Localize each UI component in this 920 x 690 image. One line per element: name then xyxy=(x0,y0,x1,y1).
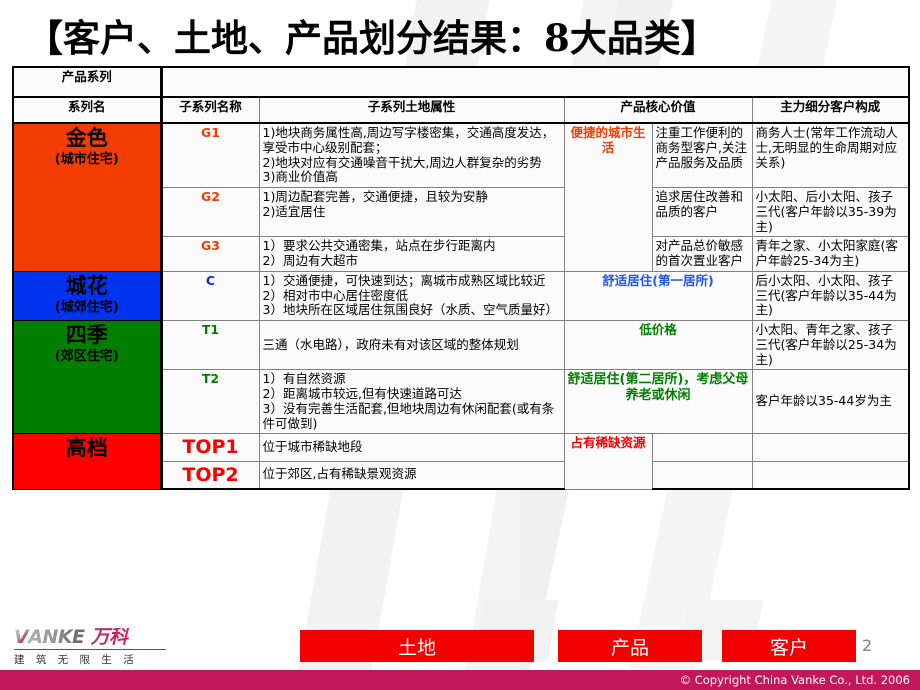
land-attributes-cell: 1）交通便捷，可快速到达；离城市成熟区域比较近 2）相对市中心居住密度低 3）地… xyxy=(259,271,564,320)
sub-series-code: TOP1 xyxy=(161,434,259,461)
table-banner-row: 产品系列 xyxy=(13,67,909,97)
col-header-sub-series-name: 子系列名称 xyxy=(161,97,259,123)
sub-series-code: G1 xyxy=(161,123,259,188)
copyright-bar: © Copyright China Vanke Co., Ltd. 2006 xyxy=(0,670,920,690)
core-value-cell: 低价格 xyxy=(564,321,752,370)
series-name: 金色 xyxy=(17,126,157,151)
core-value-desc-cell: 注重工作便利的商务型客户,关注产品服务及品质 xyxy=(652,123,752,188)
land-attributes-cell: 三通（水电路），政府未有对该区域的整体规划 xyxy=(259,321,564,370)
customer-composition-cell xyxy=(752,434,909,461)
logo-wordmark: VANKE 万科 xyxy=(14,628,174,647)
series-cell-0: 金色(城市住宅) xyxy=(13,123,161,271)
core-value-desc-cell xyxy=(652,434,752,461)
table-row: 四季(郊区住宅)T1三通（水电路），政府未有对该区域的整体规划低价格小太阳、青年… xyxy=(13,321,909,370)
series-sub-label: (郊区住宅) xyxy=(17,349,157,364)
core-value-desc-cell: 追求居住改善和品质的客户 xyxy=(652,188,752,237)
copyright-text: © Copyright China Vanke Co., Ltd. 2006 xyxy=(680,673,920,687)
core-value-desc-cell xyxy=(652,461,752,489)
col-header-customer-composition: 主力细分客户构成 xyxy=(752,97,909,123)
land-attributes-cell: 1)地块商务属性高,周边写字楼密集，交通高度发达，享受市中心级别配套； 2)地块… xyxy=(259,123,564,188)
table-row: 城花(城郊住宅)C1）交通便捷，可快速到达；离城市成熟区域比较近 2）相对市中心… xyxy=(13,271,909,320)
customer-composition-cell: 小太阳、后小太阳、孩子三代(客户年龄以35-39为主) xyxy=(752,188,909,237)
sub-series-code: G2 xyxy=(161,188,259,237)
col-header-core-value: 产品核心价值 xyxy=(564,97,752,123)
col-header-series-name: 系列名 xyxy=(13,97,161,123)
customer-composition-cell: 客户年龄以35-44岁为主 xyxy=(752,370,909,434)
banner-product-series: 产品系列 xyxy=(13,67,161,97)
sub-series-code: T2 xyxy=(161,370,259,434)
page-number: 2 xyxy=(862,636,872,655)
land-attributes-cell: 位于城市稀缺地段 xyxy=(259,434,564,461)
sub-series-code: TOP2 xyxy=(161,461,259,489)
series-name: 四季 xyxy=(17,323,157,348)
core-value-desc-cell: 对产品总价敏感的首次置业客户 xyxy=(652,237,752,272)
customer-composition-cell: 小太阳、青年之家、孩子三代(客户年龄以25-34为主) xyxy=(752,321,909,370)
series-name: 城花 xyxy=(17,274,157,299)
land-attributes-cell: 1)周边配套完善，交通便捷，且较为安静 2)适宜居住 xyxy=(259,188,564,237)
customer-composition-cell xyxy=(752,461,909,489)
nav-button-product[interactable]: 产品 xyxy=(558,630,702,662)
nav-button-land[interactable]: 土地 xyxy=(300,630,534,662)
table-header-row: 系列名子系列名称子系列土地属性产品核心价值主力细分客户构成 xyxy=(13,97,909,123)
core-value-cell: 舒适居住(第一居所) xyxy=(564,271,752,320)
land-attributes-cell: 1）要求公共交通密集，站点在步行距离内 2）周边有大超市 xyxy=(259,237,564,272)
sub-series-code: C xyxy=(161,271,259,320)
logo-text: ANKE 万科 xyxy=(28,626,127,648)
vanke-logo: VANKE 万科 建 筑 无 限 生 活 xyxy=(14,628,174,670)
col-header-land-attributes: 子系列土地属性 xyxy=(259,97,564,123)
customer-composition-cell: 青年之家、小太阳家庭(客户年龄25-34为主) xyxy=(752,237,909,272)
series-name: 高档 xyxy=(17,436,157,461)
product-series-table: 产品系列系列名子系列名称子系列土地属性产品核心价值主力细分客户构成金色(城市住宅… xyxy=(12,66,910,490)
land-attributes-cell: 位于郊区,占有稀缺景观资源 xyxy=(259,461,564,489)
logo-tagline: 建 筑 无 限 生 活 xyxy=(14,652,174,667)
banner-blank xyxy=(161,67,909,97)
series-cell-2: 四季(郊区住宅) xyxy=(13,321,161,434)
sub-series-code: G3 xyxy=(161,237,259,272)
nav-button-customer[interactable]: 客户 xyxy=(722,630,856,662)
customer-composition-cell: 商务人士(常年工作流动人士,无明显的生命周期对应关系) xyxy=(752,123,909,188)
series-cell-1: 城花(城郊住宅) xyxy=(13,271,161,320)
core-value-group-cell: 占有稀缺资源 xyxy=(564,434,652,489)
core-value-cell: 舒适居住(第二居所)，考虑父母养老或休闲 xyxy=(564,370,752,434)
land-attributes-cell: 1）有自然资源 2）距离城市较远,但有快速道路可达 3）没有完善生活配套,但地块… xyxy=(259,370,564,434)
logo-v-mark: V xyxy=(14,628,28,647)
series-sub-label: (城郊住宅) xyxy=(17,300,157,315)
core-value-group-cell: 便捷的城市生活 xyxy=(564,123,652,271)
customer-composition-cell: 后小太阳、小太阳、孩子三代(客户年龄以35-44为主) xyxy=(752,271,909,320)
sub-series-code: T1 xyxy=(161,321,259,370)
table-row: 金色(城市住宅)G11)地块商务属性高,周边写字楼密集，交通高度发达，享受市中心… xyxy=(13,123,909,188)
series-cell-3: 高档 xyxy=(13,434,161,489)
table-row: 高档TOP1位于城市稀缺地段占有稀缺资源 xyxy=(13,434,909,461)
series-sub-label: (城市住宅) xyxy=(17,152,157,167)
logo-divider xyxy=(14,649,166,650)
slide: 【客户、土地、产品划分结果：8大品类】 产品系列系列名子系列名称子系列土地属性产… xyxy=(0,0,920,690)
page-title: 【客户、土地、产品划分结果：8大品类】 xyxy=(26,8,718,62)
